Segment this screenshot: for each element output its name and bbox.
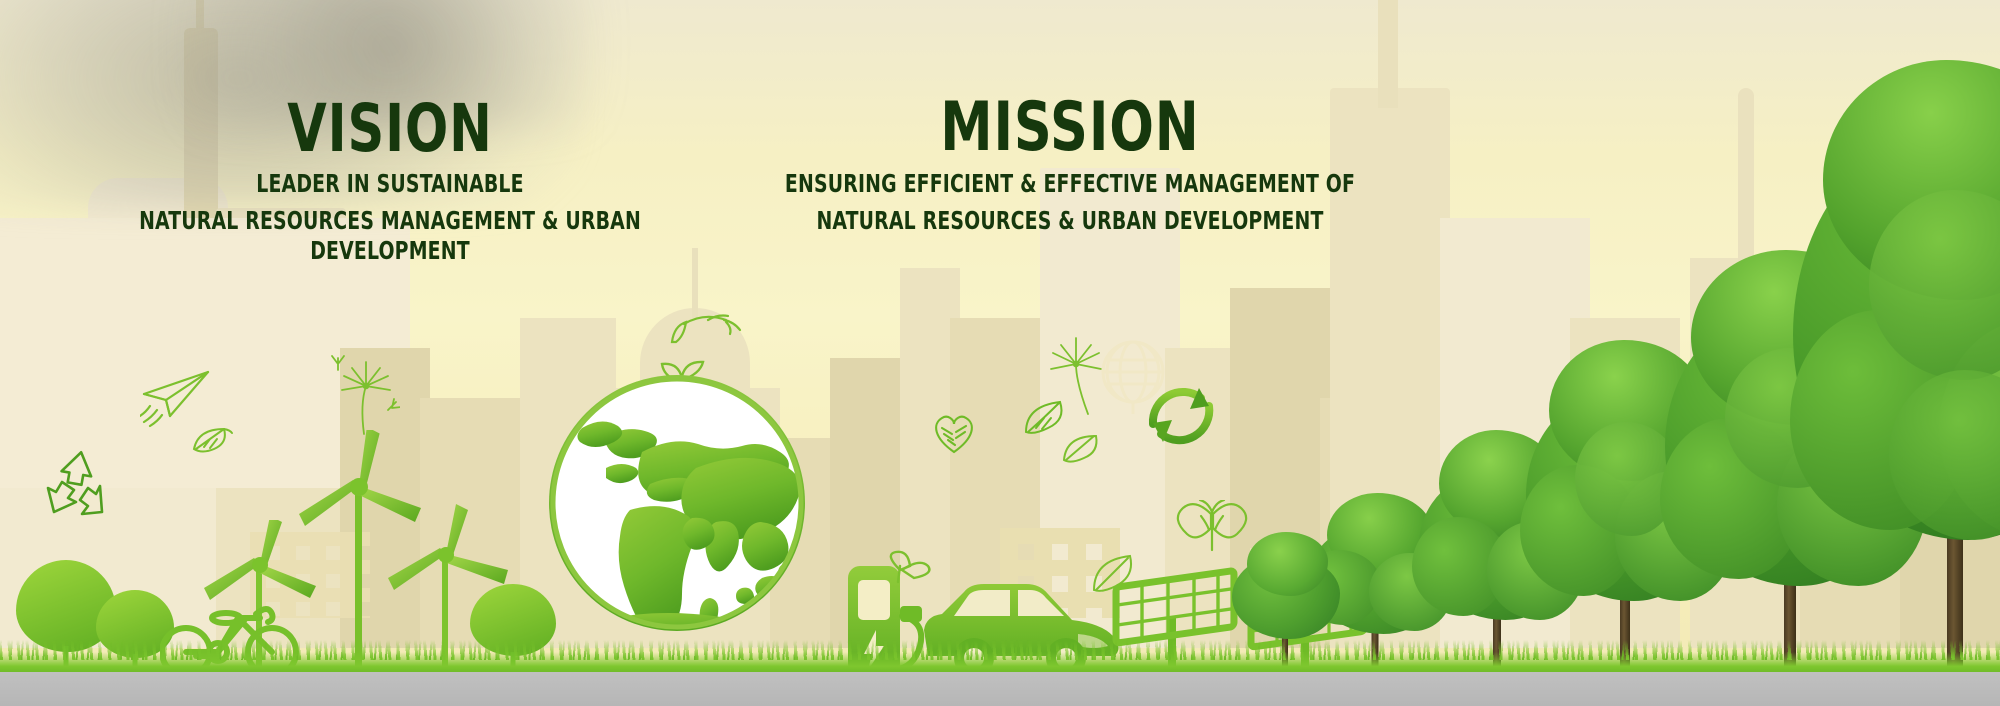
leaf-icon [1060, 432, 1106, 466]
mission-line-1: ENSURING EFFICIENT & EFFECTIVE MANAGEMEN… [759, 169, 1381, 199]
mission-line-2: NATURAL RESOURCES & URBAN DEVELOPMENT [759, 206, 1381, 236]
paper-plane-icon [140, 366, 220, 428]
recycle-arrows-icon [1133, 366, 1229, 462]
eco-city-banner: VISION LEADER IN SUSTAINABLE NATURAL RES… [0, 0, 2000, 706]
earth-globe-icon [546, 372, 808, 634]
leaf-icon [190, 425, 236, 455]
vision-line-2: NATURAL RESOURCES MANAGEMENT & URBAN DEV… [113, 206, 667, 265]
vision-title: VISION [106, 98, 674, 161]
tower-spire [1378, 0, 1398, 108]
tree-icon [1790, 60, 2000, 680]
grass-doodle-icon [668, 302, 752, 348]
mission-text-block: MISSION ENSURING EFFICIENT & EFFECTIVE M… [700, 96, 1440, 236]
heart-leaf-icon [930, 408, 978, 456]
road-strip [0, 672, 2000, 706]
vision-line-1: LEADER IN SUSTAINABLE [113, 169, 667, 199]
recycle-triangle-icon [40, 448, 116, 520]
dandelion-icon [330, 350, 400, 436]
vision-text-block: VISION LEADER IN SUSTAINABLE NATURAL RES… [60, 98, 720, 265]
mission-title: MISSION [752, 96, 1388, 161]
